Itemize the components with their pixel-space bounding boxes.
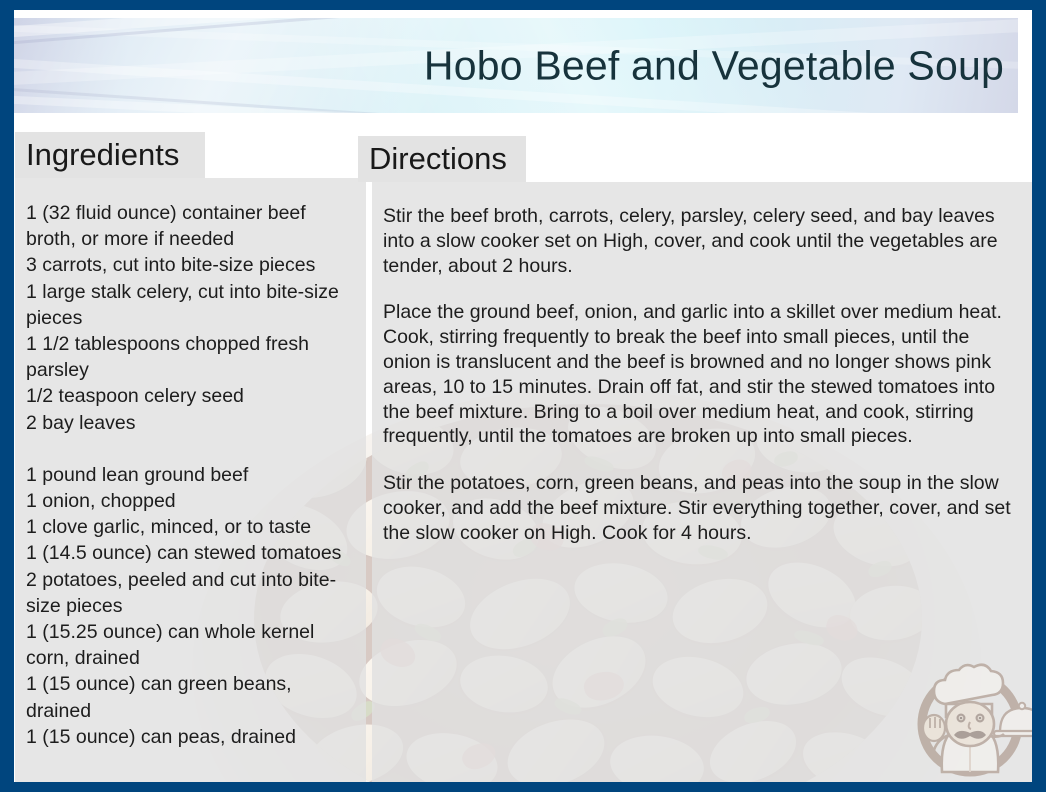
list-item: 2 bay leaves xyxy=(26,410,352,436)
recipe-title: Hobo Beef and Vegetable Soup xyxy=(424,42,1004,89)
recipe-card: Hobo Beef and Vegetable Soup xyxy=(0,0,1046,792)
ingredients-heading: Ingredients xyxy=(15,132,205,178)
title-banner: Hobo Beef and Vegetable Soup xyxy=(14,18,1018,113)
banner-wave-decoration xyxy=(14,92,1018,113)
list-item: 1 large stalk celery, cut into bite-size… xyxy=(26,279,352,331)
list-item: 1 (15 ounce) can green beans, drained xyxy=(26,671,352,723)
list-item: 1/2 teaspoon celery seed xyxy=(26,383,352,409)
directions-heading: Directions xyxy=(358,136,526,182)
list-item: 1 1/2 tablespoons chopped fresh parsley xyxy=(26,331,352,383)
recipe-page: Hobo Beef and Vegetable Soup xyxy=(14,10,1032,782)
direction-step: Stir the potatoes, corn, green beans, an… xyxy=(383,471,1018,545)
list-item: 1 clove garlic, minced, or to taste xyxy=(26,514,352,540)
list-item: 1 (14.5 ounce) can stewed tomatoes xyxy=(26,540,352,566)
direction-step: Stir the beef broth, carrots, celery, pa… xyxy=(383,204,1018,278)
banner-wave-decoration xyxy=(14,18,1018,43)
list-group-separator xyxy=(26,436,352,462)
list-item: 2 potatoes, peeled and cut into bite-siz… xyxy=(26,567,352,619)
list-item: 3 carrots, cut into bite-size pieces xyxy=(26,252,352,278)
list-item: 1 (15 ounce) can peas, drained xyxy=(26,724,352,750)
list-item: 1 onion, chopped xyxy=(26,488,352,514)
directions-panel: Stir the beef broth, carrots, celery, pa… xyxy=(372,182,1032,782)
direction-step: Place the ground beef, onion, and garlic… xyxy=(383,300,1018,449)
list-item: 1 (32 fluid ounce) container beef broth,… xyxy=(26,200,352,252)
list-item: 1 pound lean ground beef xyxy=(26,462,352,488)
list-item: 1 (15.25 ounce) can whole kernel corn, d… xyxy=(26,619,352,671)
ingredients-panel: 1 (32 fluid ounce) container beef broth,… xyxy=(15,178,366,782)
ingredients-list: 1 (32 fluid ounce) container beef broth,… xyxy=(26,200,352,750)
